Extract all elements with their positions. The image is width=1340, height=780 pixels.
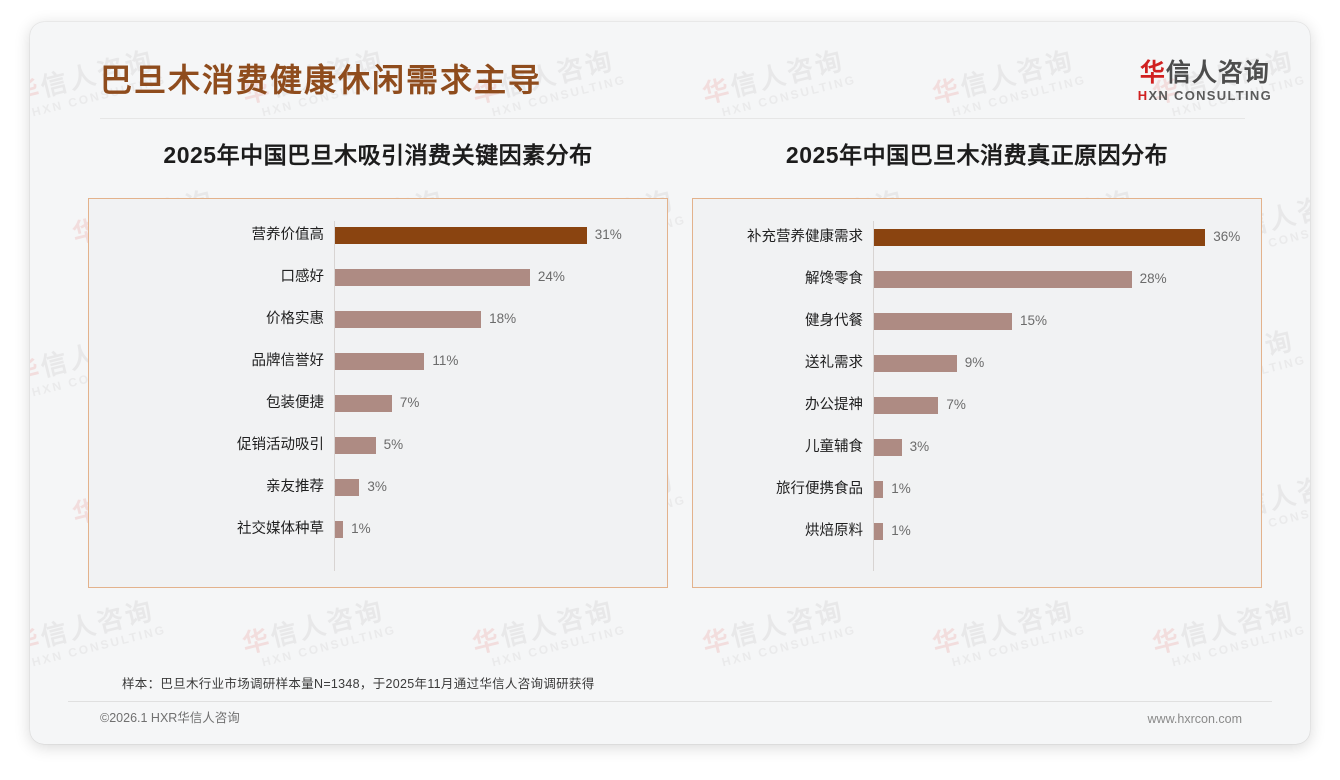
bar-value-label: 1% bbox=[891, 477, 911, 501]
watermark-text: 华信人咨询HXN CONSULTING bbox=[470, 595, 628, 673]
bar-category-label: 亲友推荐 bbox=[89, 475, 324, 499]
bar-value-label: 15% bbox=[1020, 309, 1047, 333]
watermark-text: 华信人咨询HXN CONSULTING bbox=[30, 595, 168, 673]
chart-left-plot: 营养价值高31%口感好24%价格实惠18%品牌信誉好11%包装便捷7%促销活动吸… bbox=[89, 199, 667, 587]
bar-row: 解馋零食28% bbox=[693, 267, 1261, 291]
bar-value-label: 7% bbox=[400, 391, 420, 415]
bar-row: 包装便捷7% bbox=[89, 391, 667, 415]
logo-name-rest: 信人咨询 bbox=[1166, 59, 1270, 87]
watermark-english: HXN CONSULTING bbox=[720, 623, 857, 670]
chart-left: 2025年中国巴旦木吸引消费关键因素分布 营养价值高31%口感好24%价格实惠1… bbox=[88, 142, 668, 588]
bar-row: 健身代餐15% bbox=[693, 309, 1261, 333]
watermark-text: 华信人咨询HXN CONSULTING bbox=[930, 595, 1088, 673]
bar bbox=[335, 437, 376, 454]
bar-category-label: 儿童辅食 bbox=[693, 435, 863, 459]
watermark-hua-char: 华 bbox=[700, 623, 735, 659]
bar-value-label: 3% bbox=[910, 435, 930, 459]
bar-category-label: 送礼需求 bbox=[693, 351, 863, 375]
bar-category-label: 社交媒体种草 bbox=[89, 517, 324, 541]
slide-header: 巴旦木消费健康休闲需求主导 华信人咨询 HXN CONSULTING bbox=[30, 22, 1310, 120]
watermark-english: HXN CONSULTING bbox=[490, 623, 627, 670]
bar-category-label: 补充营养健康需求 bbox=[693, 225, 863, 249]
bar-category-label: 价格实惠 bbox=[89, 307, 324, 331]
watermark-hua-char: 华 bbox=[30, 353, 45, 389]
page-title: 巴旦木消费健康休闲需求主导 bbox=[100, 64, 542, 96]
watermark-chinese: 华信人咨询 bbox=[930, 595, 1084, 658]
logo-en-rest: XN CONSULTING bbox=[1148, 88, 1272, 103]
watermark-chinese: 华信人咨询 bbox=[240, 595, 394, 658]
bar-value-label: 36% bbox=[1213, 225, 1240, 249]
logo-hua-char: 华 bbox=[1140, 59, 1166, 87]
bar-row: 儿童辅食3% bbox=[693, 435, 1261, 459]
bar bbox=[335, 311, 481, 328]
copyright-text: ©2026.1 HXR华信人咨询 bbox=[100, 707, 240, 726]
bar-row: 品牌信誉好11% bbox=[89, 349, 667, 373]
chart-right-title: 2025年中国巴旦木消费真正原因分布 bbox=[692, 142, 1262, 170]
watermark-hua-char: 华 bbox=[930, 623, 965, 659]
watermark-text: 华信人咨询HXN CONSULTING bbox=[240, 595, 398, 673]
bar-category-label: 营养价值高 bbox=[89, 223, 324, 247]
bar-category-label: 办公提神 bbox=[693, 393, 863, 417]
bar-category-label: 旅行便携食品 bbox=[693, 477, 863, 501]
bar-row: 促销活动吸引5% bbox=[89, 433, 667, 457]
watermark-name-rest: 信人咨询 bbox=[1178, 595, 1298, 652]
watermark-name-rest: 信人咨询 bbox=[38, 595, 158, 652]
bar bbox=[874, 229, 1205, 246]
bar bbox=[335, 353, 424, 370]
bar-row: 送礼需求9% bbox=[693, 351, 1261, 375]
chart-left-panel: 营养价值高31%口感好24%价格实惠18%品牌信誉好11%包装便捷7%促销活动吸… bbox=[88, 198, 668, 588]
watermark-chinese: 华信人咨询 bbox=[470, 595, 624, 658]
bar-value-label: 28% bbox=[1140, 267, 1167, 291]
watermark-text: 华信人咨询HXN CONSULTING bbox=[700, 595, 858, 673]
logo-en-prefix: H bbox=[1138, 88, 1149, 103]
bar bbox=[335, 269, 530, 286]
bar-category-label: 解馋零食 bbox=[693, 267, 863, 291]
watermark-chinese: 华信人咨询 bbox=[1150, 595, 1304, 658]
bar-category-label: 品牌信誉好 bbox=[89, 349, 324, 373]
bar-row: 社交媒体种草1% bbox=[89, 517, 667, 541]
watermark-hua-char: 华 bbox=[30, 623, 45, 659]
watermark-name-rest: 信人咨询 bbox=[268, 595, 388, 652]
bar-category-label: 促销活动吸引 bbox=[89, 433, 324, 457]
bar-row: 旅行便携食品1% bbox=[693, 477, 1261, 501]
bar-category-label: 健身代餐 bbox=[693, 309, 863, 333]
watermark-english: HXN CONSULTING bbox=[1170, 623, 1307, 670]
bar bbox=[335, 395, 392, 412]
watermark-english: HXN CONSULTING bbox=[260, 623, 397, 670]
watermark-hua-char: 华 bbox=[240, 623, 275, 659]
chart-right-plot: 补充营养健康需求36%解馋零食28%健身代餐15%送礼需求9%办公提神7%儿童辅… bbox=[693, 199, 1261, 587]
bar bbox=[335, 479, 359, 496]
bar bbox=[335, 521, 343, 538]
chart-right: 2025年中国巴旦木消费真正原因分布 补充营养健康需求36%解馋零食28%健身代… bbox=[692, 142, 1262, 588]
bar-value-label: 24% bbox=[538, 265, 565, 289]
bar-value-label: 11% bbox=[432, 349, 458, 373]
watermark-chinese: 华信人咨询 bbox=[700, 595, 854, 658]
bar-value-label: 18% bbox=[489, 307, 516, 331]
watermark-hua-char: 华 bbox=[470, 623, 505, 659]
watermark-name-rest: 信人咨询 bbox=[728, 595, 848, 652]
bar-value-label: 1% bbox=[891, 519, 911, 543]
bar bbox=[874, 397, 938, 414]
chart-left-title: 2025年中国巴旦木吸引消费关键因素分布 bbox=[88, 142, 668, 170]
slide-card: 华信人咨询HXN CONSULTING华信人咨询HXN CONSULTING华信… bbox=[30, 22, 1310, 744]
bar-value-label: 3% bbox=[367, 475, 387, 499]
company-logo: 华信人咨询 HXN CONSULTING bbox=[1138, 60, 1272, 103]
logo-chinese-name: 华信人咨询 bbox=[1138, 60, 1272, 86]
bar bbox=[874, 271, 1132, 288]
footer-divider bbox=[68, 701, 1272, 702]
bar-row: 口感好24% bbox=[89, 265, 667, 289]
watermark-chinese: 华信人咨询 bbox=[30, 595, 164, 658]
bar-value-label: 1% bbox=[351, 517, 371, 541]
bar-row: 办公提神7% bbox=[693, 393, 1261, 417]
bar-row: 价格实惠18% bbox=[89, 307, 667, 331]
watermark-name-rest: 信人咨询 bbox=[958, 595, 1078, 652]
website-url: www.hxrcon.com bbox=[1148, 712, 1242, 726]
bar-row: 烘焙原料1% bbox=[693, 519, 1261, 543]
bar-row: 补充营养健康需求36% bbox=[693, 225, 1261, 249]
logo-english-name: HXN CONSULTING bbox=[1138, 88, 1272, 103]
source-note: 样本：巴旦木行业市场调研样本量N=1348，于2025年11月通过华信人咨询调研… bbox=[122, 673, 595, 692]
bar-value-label: 5% bbox=[384, 433, 404, 457]
bar-row: 营养价值高31% bbox=[89, 223, 667, 247]
watermark-english: HXN CONSULTING bbox=[30, 623, 167, 670]
bar bbox=[874, 481, 883, 498]
bar bbox=[874, 355, 957, 372]
chart-right-panel: 补充营养健康需求36%解馋零食28%健身代餐15%送礼需求9%办公提神7%儿童辅… bbox=[692, 198, 1262, 588]
bar-category-label: 口感好 bbox=[89, 265, 324, 289]
bar bbox=[335, 227, 587, 244]
watermark-english: HXN CONSULTING bbox=[950, 623, 1087, 670]
bar-value-label: 7% bbox=[946, 393, 966, 417]
bar bbox=[874, 313, 1012, 330]
bar-category-label: 烘焙原料 bbox=[693, 519, 863, 543]
bar-category-label: 包装便捷 bbox=[89, 391, 324, 415]
bar-value-label: 9% bbox=[965, 351, 985, 375]
header-divider bbox=[100, 118, 1245, 119]
bar-row: 亲友推荐3% bbox=[89, 475, 667, 499]
bar bbox=[874, 439, 902, 456]
watermark-text: 华信人咨询HXN CONSULTING bbox=[1150, 595, 1308, 673]
bar-value-label: 31% bbox=[595, 223, 622, 247]
watermark-hua-char: 华 bbox=[1150, 623, 1185, 659]
watermark-name-rest: 信人咨询 bbox=[498, 595, 618, 652]
bar bbox=[874, 523, 883, 540]
